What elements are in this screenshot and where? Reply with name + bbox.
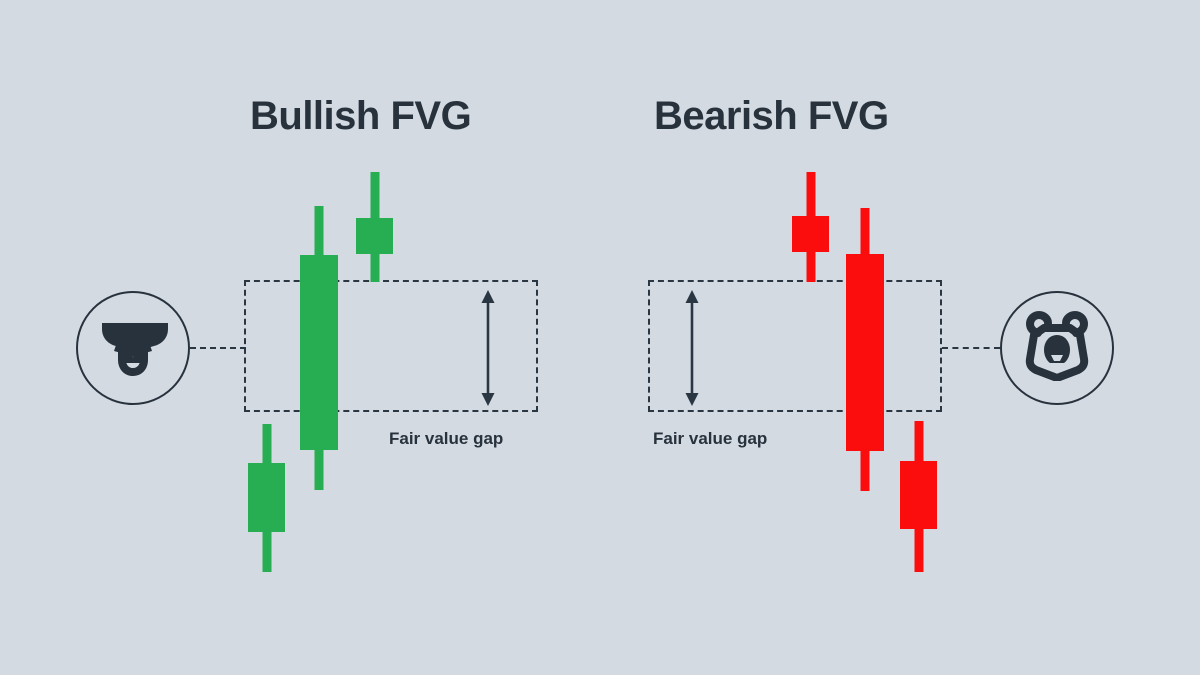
candle-lower-wick bbox=[262, 532, 271, 572]
candle-lower-wick bbox=[315, 450, 324, 490]
bearish-panel-title: Bearish FVG bbox=[654, 94, 889, 139]
bear-icon-connector-line bbox=[942, 347, 1000, 349]
candle-upper-wick bbox=[806, 172, 815, 216]
candlestick-bearish-2 bbox=[846, 208, 884, 491]
bull-icon-connector-line bbox=[190, 347, 246, 349]
candlestick-bearish-1 bbox=[792, 172, 829, 282]
bullish-gap-size-arrow bbox=[476, 289, 500, 412]
bullish-fair-value-gap-label: Fair value gap bbox=[389, 429, 503, 449]
candle-body bbox=[300, 255, 338, 450]
candle-upper-wick bbox=[370, 172, 379, 218]
candle-lower-wick bbox=[370, 254, 379, 282]
candle-body bbox=[846, 254, 884, 451]
bull-icon-badge bbox=[76, 291, 190, 405]
candle-lower-wick bbox=[861, 451, 870, 491]
bear-icon-badge bbox=[1000, 291, 1114, 405]
candle-upper-wick bbox=[914, 421, 923, 461]
candle-body bbox=[900, 461, 937, 529]
candle-body bbox=[248, 463, 285, 532]
bear-icon bbox=[1020, 311, 1094, 386]
candle-body bbox=[792, 216, 829, 252]
candle-lower-wick bbox=[806, 252, 815, 282]
candle-upper-wick bbox=[315, 206, 324, 255]
candle-upper-wick bbox=[861, 208, 870, 254]
candlestick-bullish-3 bbox=[356, 172, 393, 282]
candlestick-bearish-3 bbox=[900, 421, 937, 572]
candle-upper-wick bbox=[262, 424, 271, 463]
bearish-gap-size-arrow bbox=[680, 289, 704, 412]
bull-icon bbox=[96, 315, 170, 382]
bearish-fair-value-gap-label: Fair value gap bbox=[653, 429, 767, 449]
candlestick-bullish-1 bbox=[248, 424, 285, 572]
bullish-panel-title: Bullish FVG bbox=[250, 94, 471, 139]
candle-body bbox=[356, 218, 393, 254]
diagram-canvas: Bullish FVG Bearish FVG bbox=[0, 0, 1200, 675]
candlestick-bullish-2 bbox=[300, 206, 338, 490]
candle-lower-wick bbox=[914, 529, 923, 572]
